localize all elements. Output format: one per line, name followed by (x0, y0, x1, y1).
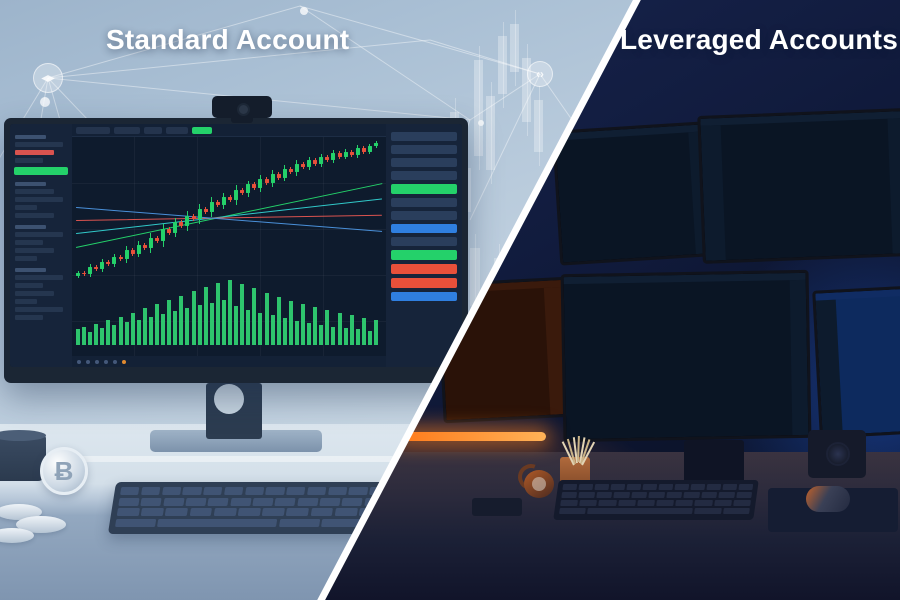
candle-body (258, 179, 262, 188)
sidebar-item[interactable] (15, 291, 54, 296)
split-comparison-scene: ◂▸‹› (0, 0, 900, 600)
key (614, 492, 630, 498)
pencils (560, 432, 594, 464)
key (238, 508, 261, 516)
key (579, 492, 595, 498)
volume-bar (271, 315, 275, 345)
screen-top-right (700, 111, 900, 261)
screen-mid-right (815, 289, 900, 436)
key (214, 508, 237, 516)
webcam-mount (231, 116, 253, 123)
volume-bar (167, 300, 171, 345)
key (335, 508, 358, 516)
key (626, 484, 641, 490)
key (182, 487, 202, 495)
candle-body (240, 190, 244, 193)
candle-body (252, 184, 256, 187)
candle-body (234, 190, 238, 200)
toolbar-indicator-chip[interactable] (144, 127, 162, 134)
key (579, 500, 597, 506)
volume-bar (356, 329, 360, 345)
key (286, 508, 309, 516)
key (674, 484, 689, 490)
key (307, 487, 327, 495)
status-dot (95, 360, 99, 364)
candlestick-plot-area (72, 137, 386, 367)
candle-body (149, 238, 153, 248)
volume-bar (283, 318, 287, 345)
volume-bar (240, 284, 244, 345)
toolbar-interval-chip[interactable] (114, 127, 140, 134)
candle-body (246, 184, 250, 193)
key (723, 508, 750, 514)
toolbar-layout-chip[interactable] (166, 127, 188, 134)
speaker (808, 430, 866, 478)
candle-body (307, 160, 311, 167)
chart-toolbar[interactable] (72, 124, 386, 137)
candle-body (216, 202, 220, 205)
key (562, 484, 577, 490)
key (618, 500, 636, 506)
candle-body (210, 202, 214, 212)
volume-bar (325, 310, 329, 345)
keyboard-row (559, 508, 750, 514)
key (596, 492, 612, 498)
key (163, 498, 184, 506)
candle-body (131, 250, 135, 253)
candle-body (198, 209, 202, 219)
key (675, 500, 693, 506)
key (252, 498, 273, 506)
volume-bar (143, 308, 147, 345)
sidebar-item[interactable] (15, 283, 43, 288)
volume-bar (216, 283, 220, 345)
keyboard-dark[interactable] (553, 480, 759, 520)
key (714, 500, 732, 506)
key (319, 498, 340, 506)
terminal-status-bar (72, 356, 386, 367)
volume-bar (94, 324, 98, 345)
key (115, 519, 156, 527)
spacebar (587, 508, 693, 514)
key (736, 492, 752, 498)
status-dot (113, 360, 117, 364)
candle-body (119, 257, 123, 259)
key (117, 508, 140, 516)
exchange-node-icon: ◂▸ (33, 63, 63, 93)
key (683, 492, 699, 498)
candle-body (112, 257, 116, 264)
volume-bar (137, 320, 141, 345)
key (642, 484, 657, 490)
volume-bar (210, 303, 214, 345)
mouse[interactable] (806, 486, 850, 512)
monitor-mid-right (812, 285, 900, 438)
candle-body (350, 152, 354, 155)
volume-bar (222, 300, 226, 345)
sidebar-section-header (15, 135, 46, 139)
keyboard-row (561, 492, 752, 498)
key (310, 508, 333, 516)
chart-plot (701, 118, 900, 261)
key (610, 484, 625, 490)
key (208, 498, 229, 506)
key (230, 498, 251, 506)
monitor-standard (4, 118, 468, 383)
candle-body (125, 250, 129, 259)
keyboard-row (560, 500, 751, 506)
key (141, 487, 161, 495)
key (690, 484, 705, 490)
volume-bar (131, 313, 135, 346)
webcam-icon (212, 96, 272, 118)
candle-body (301, 164, 305, 167)
candle-body (137, 245, 141, 254)
volume-bar (331, 327, 335, 345)
volume-bar (112, 325, 116, 345)
key (275, 498, 296, 506)
page-title-standard: Standard Account (106, 24, 349, 56)
status-dot (77, 360, 81, 364)
key (297, 498, 318, 506)
key (342, 498, 363, 506)
sidebar-item[interactable] (15, 307, 63, 312)
sidebar-item[interactable] (15, 248, 54, 253)
volume-bar (82, 327, 86, 345)
monitor-top-right (697, 108, 900, 264)
volume-bar (228, 280, 232, 345)
candle-body (368, 146, 372, 151)
sidebar-item[interactable] (15, 205, 37, 210)
orderbook-row (391, 145, 457, 154)
buy-button[interactable] (391, 250, 457, 260)
volume-bar (155, 304, 159, 345)
key (666, 492, 682, 498)
sidebar-section-header (15, 225, 46, 229)
key (328, 487, 348, 495)
sidebar-item[interactable] (15, 142, 63, 147)
sidebar-item[interactable] (15, 150, 54, 155)
key (141, 508, 164, 516)
key (658, 484, 673, 490)
key (141, 498, 162, 506)
key (224, 487, 244, 495)
candle-body (106, 262, 110, 264)
terminal-sidebar[interactable] (10, 124, 72, 367)
volume-bar (119, 317, 123, 345)
volume-bar (100, 328, 104, 345)
key (694, 508, 721, 514)
sidebar-item[interactable] (15, 158, 43, 163)
toolbar-live-chip[interactable] (192, 127, 212, 134)
volume-bar (313, 307, 317, 345)
close-position-button[interactable] (391, 278, 457, 288)
volume-bar (301, 304, 305, 345)
status-dot (104, 360, 108, 364)
volume-bar (88, 332, 92, 345)
key (599, 500, 617, 506)
orderbook-row (391, 171, 457, 180)
key (701, 492, 717, 498)
sidebar-item[interactable] (15, 299, 37, 304)
status-dot (86, 360, 90, 364)
key (718, 492, 734, 498)
key (189, 508, 212, 516)
sell-button[interactable] (391, 264, 457, 274)
orderbook-row (391, 211, 457, 220)
volume-bar (192, 291, 196, 345)
volume-bar (338, 313, 342, 346)
candle-body (362, 148, 366, 151)
orderbook-row (391, 132, 457, 141)
monitor-mid-center (561, 270, 812, 442)
order-ticket-panel[interactable] (386, 124, 462, 367)
volume-bar (76, 329, 80, 345)
volume-bar (362, 318, 366, 345)
toolbar-symbol-chip[interactable] (76, 127, 110, 134)
key (162, 487, 182, 495)
key (321, 519, 362, 527)
sidebar-item[interactable] (15, 315, 43, 320)
candle-body (356, 148, 360, 155)
candle-body (313, 160, 317, 163)
key (245, 487, 265, 495)
candle-body (319, 157, 323, 164)
volume-bar (149, 317, 153, 345)
key (185, 498, 206, 506)
key (118, 498, 139, 506)
orderbook-row (391, 158, 457, 167)
key (165, 508, 188, 516)
volume-bar (161, 314, 165, 345)
candle-body (222, 197, 226, 206)
volume-bar (234, 306, 238, 345)
sidebar-item[interactable] (15, 232, 63, 237)
candle-body (325, 157, 329, 160)
key (203, 487, 223, 495)
key (706, 484, 721, 490)
key (656, 500, 674, 506)
volume-bar (252, 288, 256, 345)
grid-line-horizontal (72, 183, 386, 184)
candle-body (344, 152, 348, 157)
candle-body (100, 262, 104, 269)
spread-indicator (391, 184, 457, 194)
volume-bar (179, 296, 183, 345)
sidebar-item[interactable] (15, 275, 63, 280)
volume-bar (368, 331, 372, 345)
chart-plot (564, 280, 809, 439)
bitcoin-coin: Ƀ (40, 447, 88, 495)
orderbook-row (391, 198, 457, 207)
key (631, 492, 647, 498)
volume-bar (265, 293, 269, 345)
sidebar-item[interactable] (15, 197, 63, 202)
volume-bar (185, 308, 189, 345)
candle-body (94, 267, 98, 269)
screen-mid-center (564, 273, 809, 439)
key (722, 484, 737, 490)
sidebar-item[interactable] (15, 256, 37, 261)
candle-body (143, 245, 147, 248)
monitor-top-left (552, 121, 712, 265)
key (738, 484, 753, 490)
candle-body (228, 197, 232, 200)
candle-body (204, 209, 208, 212)
candle-body (173, 222, 177, 232)
chart-panel (72, 124, 386, 367)
chart-plot (816, 296, 900, 436)
candle-body (82, 273, 86, 275)
trading-terminal-screen (10, 124, 462, 367)
volume-bar (319, 325, 323, 345)
spacebar (157, 519, 277, 527)
keyboard-row (118, 498, 407, 506)
sidebar-item[interactable] (15, 189, 54, 194)
candle-body (295, 164, 299, 173)
candle-body (161, 229, 165, 241)
key (265, 487, 285, 495)
external-drive (472, 498, 522, 516)
key (559, 508, 586, 514)
keyboard-row (120, 487, 409, 495)
grid-line-horizontal (72, 275, 386, 276)
key (560, 500, 578, 506)
headphone-earcup (524, 470, 554, 498)
status-dot-alert (122, 360, 126, 364)
candle-body (283, 169, 287, 178)
key (578, 484, 593, 490)
volume-bar (307, 323, 311, 345)
sidebar-item[interactable] (15, 213, 54, 218)
candle-body (155, 238, 159, 241)
volume-bar (374, 320, 378, 345)
key (279, 519, 320, 527)
sidebar-section-header (15, 268, 46, 272)
sidebar-section-header (15, 182, 46, 186)
volume-bar (344, 328, 348, 345)
code-node-icon: ‹› (527, 61, 553, 87)
key (594, 484, 609, 490)
key (561, 492, 577, 498)
volume-bar (295, 321, 299, 345)
candle-body (374, 143, 378, 146)
candle-body (289, 169, 293, 172)
candle-body (271, 174, 275, 183)
candle-body (167, 229, 171, 232)
candle-body (192, 216, 196, 219)
key (348, 487, 368, 495)
keyboard-row (117, 508, 406, 516)
submit-order-button[interactable] (391, 292, 457, 301)
network-dot (300, 7, 308, 15)
led-light-bar (398, 432, 546, 441)
volume-bar (173, 311, 177, 345)
chart-plot (556, 132, 709, 263)
price-input[interactable] (391, 237, 457, 246)
volume-bar (258, 313, 262, 346)
key (262, 508, 285, 516)
headphones-icon (516, 462, 556, 498)
screen-top-left (555, 125, 709, 263)
candle-body (185, 216, 189, 226)
monitor-stand-cable-hole (214, 384, 244, 414)
network-dot (478, 120, 484, 126)
speaker-cone (826, 442, 850, 466)
volume-bar (106, 320, 110, 345)
candle-body (76, 273, 80, 276)
key (733, 500, 751, 506)
volume-bar (277, 297, 281, 345)
candle-body (179, 222, 183, 225)
candle-body (338, 153, 342, 156)
key (286, 487, 306, 495)
candle-body (277, 174, 281, 177)
key (120, 487, 140, 495)
sidebar-active-item[interactable] (14, 167, 68, 175)
volume-bar (198, 305, 202, 345)
candle-body (88, 267, 92, 274)
volume-bar (246, 310, 250, 345)
key (695, 500, 713, 506)
keyboard-row (562, 484, 753, 490)
quantity-input[interactable] (391, 224, 457, 233)
volume-bar (289, 301, 293, 345)
volume-bar (350, 315, 354, 345)
volume-bar (125, 322, 129, 345)
key (649, 492, 665, 498)
network-dot (40, 97, 50, 107)
page-title-leveraged: Leveraged Accounts (620, 24, 898, 56)
candle-body (331, 153, 335, 160)
candle-body (265, 179, 269, 182)
key (637, 500, 655, 506)
sidebar-item[interactable] (15, 240, 43, 245)
volume-bar (204, 287, 208, 345)
